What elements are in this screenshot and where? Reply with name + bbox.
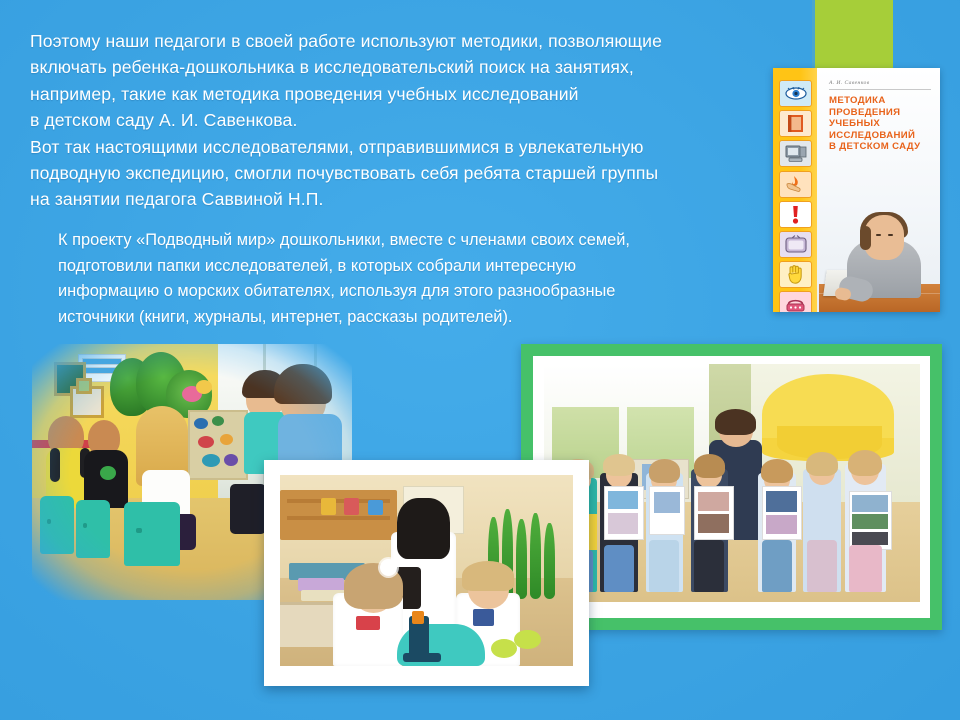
decor-accent-green-bar <box>815 0 893 68</box>
eye-icon <box>779 80 812 107</box>
sub-line-3: информацию о морских обитателях, использ… <box>58 279 773 305</box>
slide-canvas: Поэтому наши педагоги в своей работе исп… <box>0 0 960 720</box>
book-title: МЕТОДИКА ПРОВЕДЕНИЯ УЧЕБНЫХ ИССЛЕДОВАНИЙ… <box>829 95 933 153</box>
exclamation-icon <box>779 201 812 228</box>
body-text-block: Поэтому наши педагоги в своей работе исп… <box>30 28 775 213</box>
body-line-6: подводную экспедицию, смогли почувствова… <box>30 160 775 186</box>
sub-text-block: К проекту «Подводный мир» дошкольники, в… <box>58 228 773 330</box>
tv-icon <box>779 231 812 258</box>
hand-flame-icon <box>779 171 812 198</box>
book-title-line-1: МЕТОДИКА <box>829 95 933 107</box>
book-title-line-4: ИССЛЕДОВАНИЙ <box>829 130 933 142</box>
book-cover-photo <box>819 200 940 312</box>
book-title-line-5: В ДЕТСКОМ САДУ <box>829 141 933 153</box>
body-line-3: например, такие как методика проведения … <box>30 81 775 107</box>
children-microscope-frame <box>264 460 589 686</box>
body-line-7: на занятии педагога Саввиной Н.П. <box>30 186 775 212</box>
sub-line-1: К проекту «Подводный мир» дошкольники, в… <box>58 228 773 254</box>
book-title-line-3: УЧЕБНЫХ <box>829 118 933 130</box>
children-microscope-photo <box>280 475 573 666</box>
telephone-icon <box>779 291 812 312</box>
sub-line-2: подготовили папки исследователей, в кото… <box>58 254 773 280</box>
body-line-2: включать ребенка-дошкольника в исследова… <box>30 54 775 80</box>
computer-icon <box>779 140 812 167</box>
body-line-5: Вот так настоящими исследователями, отпр… <box>30 134 775 160</box>
body-line-4: в детском саду А. И. Савенкова. <box>30 107 775 133</box>
body-line-1: Поэтому наши педагоги в своей работе исп… <box>30 28 775 54</box>
sub-line-4: источники (книги, журналы, интернет, рас… <box>58 305 773 331</box>
book-title-line-2: ПРОВЕДЕНИЯ <box>829 107 933 119</box>
book-cover-image: А. И. Савенков МЕТОДИКА ПРОВЕДЕНИЯ УЧЕБН… <box>773 68 940 312</box>
book-icon-column <box>779 80 812 312</box>
book-author-name: А. И. Савенков <box>829 80 931 90</box>
book-icon <box>779 110 812 137</box>
children-with-folders-photo <box>544 364 920 602</box>
hand-icon <box>779 261 812 288</box>
